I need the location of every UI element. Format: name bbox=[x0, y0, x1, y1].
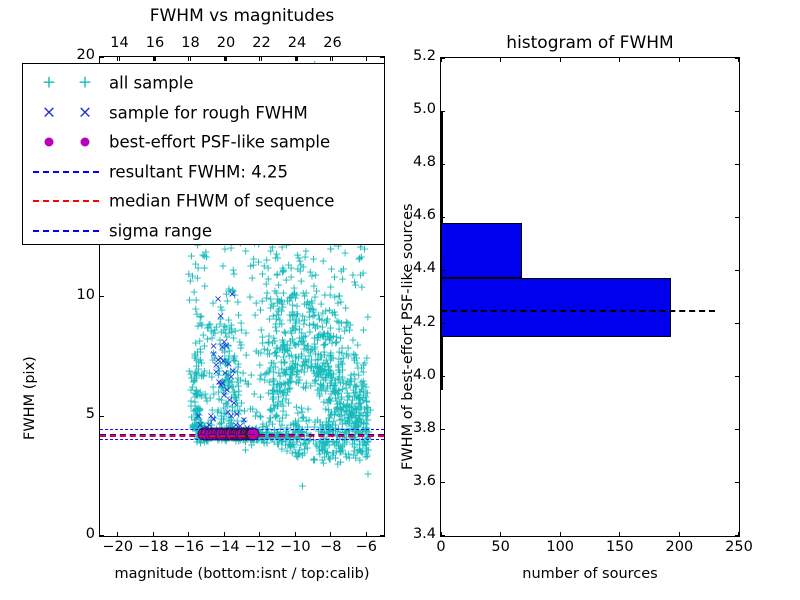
scatter-point-all: + bbox=[245, 291, 254, 302]
scatter-point-all: + bbox=[351, 381, 360, 392]
scatter-point-all: + bbox=[363, 311, 372, 322]
y-tick bbox=[100, 535, 104, 536]
hist-y-tick bbox=[441, 323, 445, 324]
scatter-point-all: + bbox=[335, 291, 344, 302]
hist-y-tick-mirror bbox=[735, 270, 739, 271]
scatter-point-all: + bbox=[298, 450, 307, 461]
hist-y-ticklabel: 5.0 bbox=[413, 101, 436, 117]
scatter-point-all: + bbox=[320, 339, 329, 350]
scatter-point-all: + bbox=[257, 325, 266, 336]
scatter-point-all: + bbox=[346, 320, 355, 331]
x-tick-top-mirror bbox=[366, 57, 367, 61]
dashed-line-icon bbox=[33, 200, 99, 202]
y-ticklabel: 10 bbox=[77, 287, 95, 303]
scatter-point-all: + bbox=[187, 250, 196, 261]
x-tick-top bbox=[296, 57, 297, 61]
scatter-point-rough: × bbox=[212, 361, 220, 371]
scatter-point-all: + bbox=[186, 276, 195, 287]
y-tick-mirror bbox=[380, 416, 384, 417]
scatter-point-rough: × bbox=[220, 391, 228, 401]
legend-marker bbox=[29, 127, 105, 157]
hist-x-tick-mirror bbox=[619, 58, 620, 62]
legend-entry-label: best-effort PSF-like sample bbox=[109, 133, 330, 152]
cross-icon: × bbox=[42, 104, 56, 121]
y-tick bbox=[100, 56, 104, 57]
hist-y-ticklabel: 4.6 bbox=[413, 207, 436, 223]
scatter-point-rough: × bbox=[222, 342, 230, 352]
hist-y-tick bbox=[441, 429, 445, 430]
scatter-point-all: + bbox=[303, 403, 312, 414]
scatter-point-all: + bbox=[309, 365, 318, 376]
dashdot-line-icon bbox=[33, 230, 99, 232]
x-ticklabel-top: 22 bbox=[252, 35, 270, 51]
scatter-point-all: + bbox=[282, 409, 291, 420]
y-tick-mirror bbox=[380, 296, 384, 297]
x-ticklabel-bottom: −18 bbox=[138, 539, 169, 555]
hline-sigma-range-upper bbox=[100, 429, 384, 430]
scatter-point-all: + bbox=[269, 379, 278, 390]
x-ticklabel-top: 18 bbox=[181, 35, 199, 51]
histogram-bar bbox=[441, 223, 522, 279]
hist-y-ticklabel: 3.6 bbox=[413, 473, 436, 489]
scatter-point-rough: × bbox=[207, 412, 215, 422]
legend-entry[interactable]: best-effort PSF-like sample bbox=[23, 127, 384, 157]
scatter-point-all: + bbox=[200, 280, 209, 291]
legend-entry[interactable]: resultant FWHM: 4.25 bbox=[23, 157, 384, 187]
hist-y-ticklabel: 4.2 bbox=[413, 314, 436, 330]
scatter-point-rough: × bbox=[216, 312, 224, 322]
scatter-point-all: + bbox=[275, 296, 284, 307]
x-ticklabel-bottom: −6 bbox=[356, 539, 377, 555]
hist-y-tick-mirror bbox=[735, 482, 739, 483]
x-ticklabel-top: 26 bbox=[323, 35, 341, 51]
hist-y-tick bbox=[441, 217, 445, 218]
scatter-point-all: + bbox=[190, 375, 199, 386]
x-tick-bottom bbox=[224, 532, 225, 536]
hist-y-ticklabel: 4.8 bbox=[413, 154, 436, 170]
hist-x-ticklabel: 200 bbox=[666, 539, 694, 555]
scatter-point-all: + bbox=[241, 327, 250, 338]
y-tick bbox=[100, 416, 104, 417]
hist-y-tick bbox=[441, 111, 445, 112]
x-tick-bottom bbox=[259, 532, 260, 536]
scatter-point-all: + bbox=[254, 257, 263, 268]
hist-y-ticklabel: 3.4 bbox=[413, 526, 436, 542]
scatter-point-all: + bbox=[343, 343, 352, 354]
histogram-title: histogram of FWHM bbox=[506, 33, 673, 53]
hist-x-ticklabel: 250 bbox=[725, 539, 753, 555]
hist-y-tick-mirror bbox=[735, 111, 739, 112]
left-plot-title: FWHM vs magnitudes bbox=[150, 6, 335, 26]
x-ticklabel-top: 20 bbox=[217, 35, 235, 51]
scatter-point-all: + bbox=[309, 304, 318, 315]
hist-y-tick-mirror bbox=[735, 376, 739, 377]
scatter-point-all: + bbox=[307, 270, 316, 281]
scatter-point-rough: × bbox=[209, 342, 217, 352]
histogram-bar bbox=[441, 111, 443, 223]
scatter-point-all: + bbox=[229, 265, 238, 276]
y-tick-mirror bbox=[380, 56, 384, 57]
figure-canvas: FWHM vs magnitudes magnitude (bottom:isn… bbox=[0, 0, 800, 600]
legend-marker bbox=[29, 186, 105, 216]
y-ticklabel: 20 bbox=[77, 47, 95, 63]
x-ticklabel-bottom: −10 bbox=[280, 539, 311, 555]
hist-y-tick-mirror bbox=[735, 164, 739, 165]
scatter-point-rough: × bbox=[214, 295, 222, 305]
scatter-point-all: + bbox=[359, 325, 368, 336]
scatter-point-all: + bbox=[363, 409, 372, 420]
scatter-point-all: + bbox=[324, 361, 333, 372]
hist-x-ticklabel: 0 bbox=[436, 539, 445, 555]
scatter-point-all: + bbox=[331, 392, 340, 403]
scatter-point-all: + bbox=[272, 351, 281, 362]
scatter-point-rough: × bbox=[240, 416, 248, 426]
scatter-point-all: + bbox=[315, 417, 324, 428]
scatter-point-all: + bbox=[332, 332, 341, 343]
legend-entry-label: all sample bbox=[109, 74, 194, 93]
legend-entry-label: median FHWM of sequence bbox=[109, 192, 334, 211]
x-ticklabel-top: 14 bbox=[110, 35, 128, 51]
scatter-point-all: + bbox=[330, 272, 339, 283]
x-tick-top bbox=[332, 57, 333, 61]
scatter-point-all: + bbox=[361, 442, 370, 453]
scatter-point-all: + bbox=[196, 346, 205, 357]
scatter-point-all: + bbox=[279, 390, 288, 401]
scatter-point-all: + bbox=[305, 319, 314, 330]
x-ticklabel-bottom: −16 bbox=[173, 539, 204, 555]
legend-marker bbox=[29, 216, 105, 246]
x-tick-bottom bbox=[295, 532, 296, 536]
scatter-point-all: + bbox=[334, 364, 343, 375]
scatter-point-all: + bbox=[310, 453, 319, 464]
scatter-point-all: + bbox=[341, 303, 350, 314]
legend-marker: ×× bbox=[29, 98, 105, 128]
y-tick-mirror bbox=[380, 535, 384, 536]
hist-y-tick bbox=[441, 482, 445, 483]
scatter-point-all: + bbox=[341, 248, 350, 259]
histogram-resultant-fwhm-line bbox=[441, 310, 715, 312]
x-ticklabel-top: 16 bbox=[146, 35, 164, 51]
scatter-point-all: + bbox=[200, 263, 209, 274]
legend-marker: ++ bbox=[29, 68, 105, 98]
x-ticklabel-bottom: −20 bbox=[102, 539, 133, 555]
scatter-point-all: + bbox=[264, 274, 273, 285]
dashed-line-icon bbox=[33, 171, 99, 173]
x-tick-top bbox=[119, 57, 120, 61]
x-tick-bottom bbox=[117, 532, 118, 536]
left-plot-xlabel: magnitude (bottom:isnt / top:calib) bbox=[114, 566, 369, 582]
scatter-point-all: + bbox=[282, 446, 291, 457]
hist-x-tick-mirror bbox=[738, 58, 739, 62]
hline-sigma-range-lower bbox=[100, 439, 384, 440]
hist-x-ticklabel: 100 bbox=[546, 539, 574, 555]
scatter-point-all: + bbox=[319, 256, 328, 267]
scatter-point-all: + bbox=[248, 273, 257, 284]
histogram-bar bbox=[441, 278, 671, 336]
hist-y-ticklabel: 4.4 bbox=[413, 260, 436, 276]
y-ticklabel: 5 bbox=[86, 406, 95, 422]
hist-y-ticklabel: 3.8 bbox=[413, 420, 436, 436]
hist-x-tick-mirror bbox=[560, 58, 561, 62]
hist-y-tick bbox=[441, 270, 445, 271]
y-ticklabel: 0 bbox=[86, 526, 95, 542]
scatter-point-all: + bbox=[320, 290, 329, 301]
hist-x-tick bbox=[500, 532, 501, 536]
legend-marker bbox=[29, 157, 105, 187]
scatter-point-all: + bbox=[198, 249, 207, 260]
hist-x-tick bbox=[679, 532, 680, 536]
scatter-point-all: + bbox=[236, 342, 245, 353]
hist-y-tick-mirror bbox=[735, 57, 739, 58]
hist-y-tick bbox=[441, 535, 445, 536]
hist-x-ticklabel: 150 bbox=[606, 539, 634, 555]
scatter-point-all: + bbox=[256, 412, 265, 423]
scatter-point-all: + bbox=[363, 468, 372, 479]
scatter-point-all: + bbox=[239, 367, 248, 378]
hist-x-tick bbox=[619, 532, 620, 536]
scatter-point-all: + bbox=[219, 324, 228, 335]
dot-icon bbox=[81, 138, 90, 147]
plus-icon: + bbox=[42, 75, 56, 92]
scatter-point-all: + bbox=[286, 271, 295, 282]
scatter-point-all: + bbox=[333, 459, 342, 470]
legend-entry[interactable]: sigma range bbox=[23, 216, 384, 246]
scatter-point-all: + bbox=[300, 251, 309, 262]
x-tick-bottom bbox=[188, 532, 189, 536]
hist-x-tick-mirror bbox=[679, 58, 680, 62]
x-tick-top bbox=[261, 57, 262, 61]
scatter-point-all: + bbox=[295, 323, 304, 334]
hist-x-ticklabel: 50 bbox=[491, 539, 509, 555]
scatter-point-all: + bbox=[351, 279, 360, 290]
legend-entry-label: resultant FWHM: 4.25 bbox=[109, 162, 288, 181]
hist-y-tick-mirror bbox=[735, 429, 739, 430]
hline-median-fhwm-of-sequence bbox=[100, 435, 384, 437]
scatter-point-all: + bbox=[288, 367, 297, 378]
hist-y-tick-mirror bbox=[735, 535, 739, 536]
hist-y-tick bbox=[441, 57, 445, 58]
legend-entry-label: sample for rough FWHM bbox=[109, 103, 308, 122]
scatter-point-rough: × bbox=[229, 367, 237, 377]
scatter-point-all: + bbox=[271, 411, 280, 422]
x-tick-top bbox=[225, 57, 226, 61]
hist-y-tick-mirror bbox=[735, 323, 739, 324]
scatter-point-all: + bbox=[335, 411, 344, 422]
scatter-point-all: + bbox=[306, 380, 315, 391]
x-tick-bottom bbox=[330, 532, 331, 536]
x-tick-bottom bbox=[153, 532, 154, 536]
histogram-bar bbox=[441, 337, 443, 390]
scatter-point-all: + bbox=[218, 260, 227, 271]
hist-x-tick-mirror bbox=[500, 58, 501, 62]
hist-y-tick bbox=[441, 164, 445, 165]
hist-y-ticklabel: 4.0 bbox=[413, 367, 436, 383]
cross-icon: × bbox=[78, 104, 92, 121]
scatter-point-all: + bbox=[319, 457, 328, 468]
scatter-point-all: + bbox=[317, 372, 326, 383]
x-ticklabel-bottom: −8 bbox=[320, 539, 341, 555]
hist-x-tick-mirror bbox=[440, 58, 441, 62]
legend-entry[interactable]: ++all sample bbox=[23, 68, 384, 98]
dot-icon bbox=[45, 138, 54, 147]
scatter-point-all: + bbox=[298, 480, 307, 491]
legend-box: ++all sample××sample for rough FWHMbest-… bbox=[22, 63, 385, 245]
x-ticklabel-bottom: −12 bbox=[244, 539, 275, 555]
hist-y-tick-mirror bbox=[735, 217, 739, 218]
x-tick-top bbox=[154, 57, 155, 61]
scatter-point-all: + bbox=[266, 302, 275, 313]
scatter-point-rough: × bbox=[228, 290, 236, 300]
x-tick-top bbox=[190, 57, 191, 61]
x-ticklabel-bottom: −14 bbox=[209, 539, 240, 555]
x-tick-bottom bbox=[366, 532, 367, 536]
scatter-point-rough: × bbox=[215, 378, 223, 388]
legend-entry[interactable]: ××sample for rough FWHM bbox=[23, 98, 384, 128]
scatter-point-all: + bbox=[325, 305, 334, 316]
plus-icon: + bbox=[78, 75, 92, 92]
scatter-point-all: + bbox=[297, 337, 306, 348]
legend-entry[interactable]: median FHWM of sequence bbox=[23, 186, 384, 216]
hist-y-tick bbox=[441, 376, 445, 377]
scatter-point-all: + bbox=[189, 287, 198, 298]
histogram-xlabel: number of sources bbox=[522, 566, 658, 582]
x-ticklabel-top: 24 bbox=[288, 35, 306, 51]
y-tick bbox=[100, 296, 104, 297]
scatter-point-all: + bbox=[280, 326, 289, 337]
legend-entry-label: sigma range bbox=[109, 221, 212, 240]
scatter-point-all: + bbox=[186, 396, 195, 407]
hist-x-tick bbox=[560, 532, 561, 536]
hist-y-ticklabel: 5.2 bbox=[413, 48, 436, 64]
left-plot-ylabel: FWHM (pix) bbox=[22, 356, 38, 440]
scatter-point-all: + bbox=[349, 406, 358, 417]
